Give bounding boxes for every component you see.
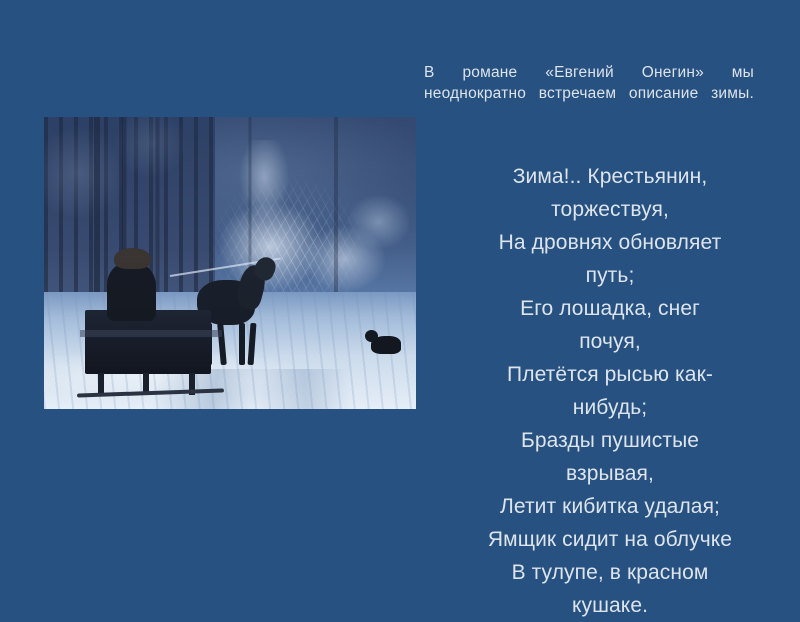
photo-dog bbox=[371, 336, 401, 354]
poem-line: кушаке. bbox=[440, 589, 780, 622]
poem-line: нибудь; bbox=[440, 391, 780, 424]
poem-block: Зима!.. Крестьянин, торжествуя, На дровн… bbox=[440, 160, 780, 622]
winter-photo bbox=[44, 117, 416, 409]
poem-line: Ямщик сидит на облучке bbox=[440, 523, 780, 556]
poem-line: взрывая, bbox=[440, 457, 780, 490]
poem-line: Бразды пушистые bbox=[440, 424, 780, 457]
photo-driver bbox=[107, 263, 155, 321]
sleigh-post bbox=[98, 373, 104, 395]
poem-line: На дровнях обновляет bbox=[440, 226, 780, 259]
slide: В романе «Евгений Онегин» мы неоднократн… bbox=[0, 0, 800, 600]
poem-line: В тулупе, в красном bbox=[440, 556, 780, 589]
poem-line: торжествуя, bbox=[440, 193, 780, 226]
poem-line: Зима!.. Крестьянин, bbox=[440, 160, 780, 193]
horse-leg bbox=[218, 323, 227, 366]
horse-leg bbox=[247, 323, 256, 366]
poem-line: путь; bbox=[440, 259, 780, 292]
poem-line: Его лошадка, снег bbox=[440, 292, 780, 325]
poem-line: Плетётся рысью как- bbox=[440, 358, 780, 391]
poem-line: Летит кибитка удалая; bbox=[440, 490, 780, 523]
poem-line: почуя, bbox=[440, 325, 780, 358]
intro-paragraph: В романе «Евгений Онегин» мы неоднократн… bbox=[424, 62, 754, 104]
horse-leg bbox=[239, 323, 245, 365]
